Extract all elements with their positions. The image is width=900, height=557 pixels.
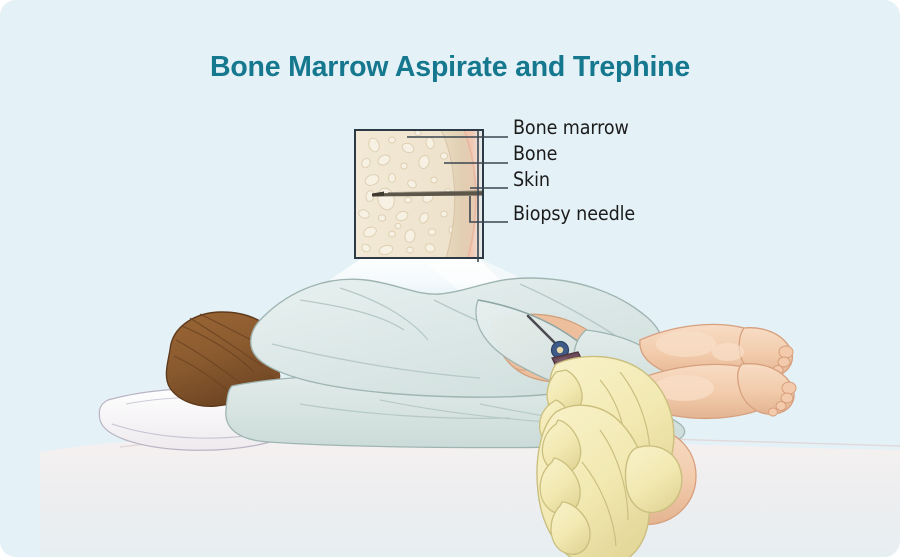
callout-label-bone: Bone bbox=[513, 144, 557, 164]
callout-label-bone-marrow: Bone marrow bbox=[513, 118, 629, 138]
biopsy-needle-hub-center bbox=[557, 347, 563, 353]
callout-label-biopsy-needle: Biopsy needle bbox=[513, 204, 635, 224]
page-title: Bone Marrow Aspirate and Trephine bbox=[0, 51, 900, 84]
bed-sheet bbox=[40, 437, 900, 557]
illustration-canvas: Bone Marrow Aspirate and Trephine Bone m… bbox=[0, 0, 900, 557]
callout-label-skin: Skin bbox=[513, 170, 550, 190]
glove-cuff bbox=[625, 446, 681, 512]
inset-panel bbox=[355, 130, 483, 258]
